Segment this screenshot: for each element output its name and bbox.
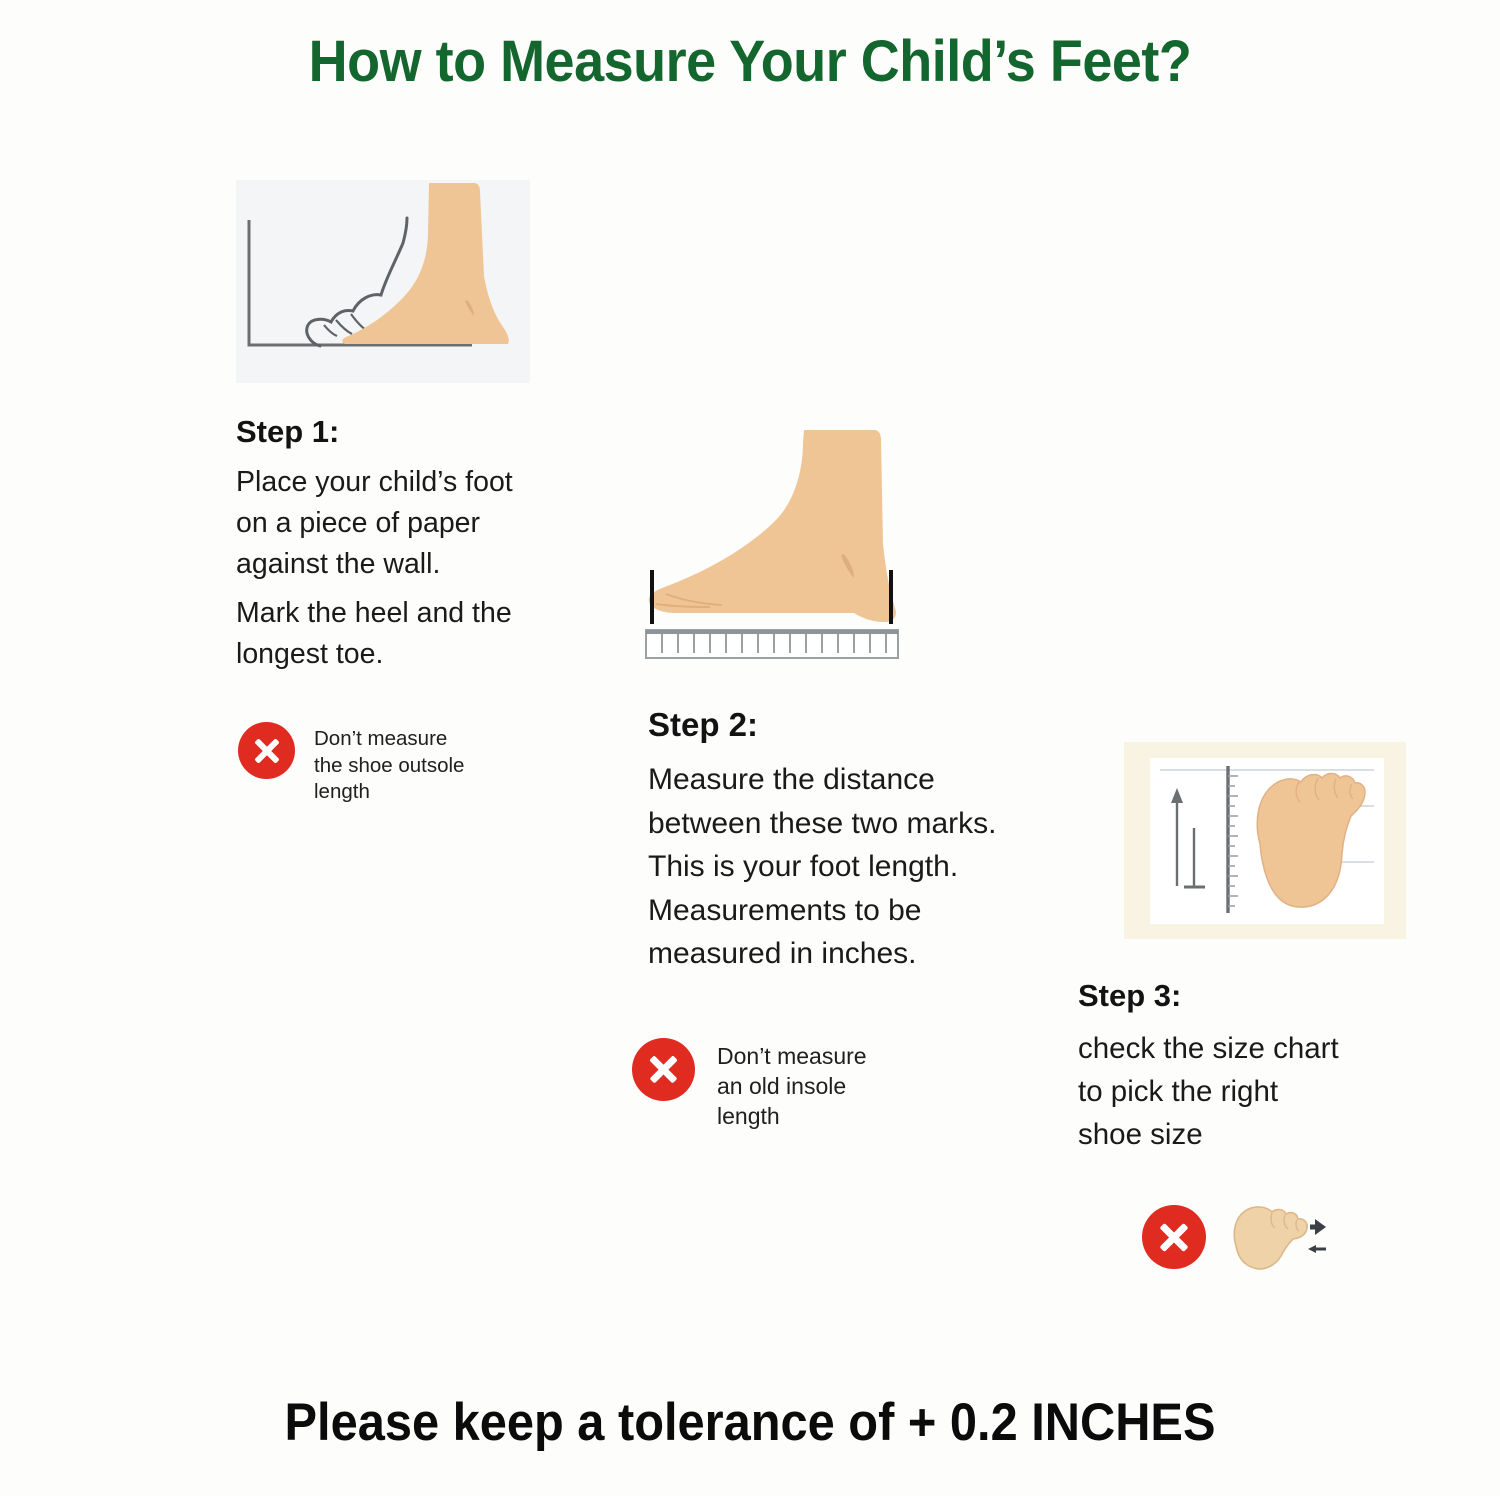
step3-illustration: [1124, 742, 1406, 939]
step1-spacer: [236, 585, 513, 593]
step2-line-5: measured in inches.: [648, 932, 997, 976]
tolerance-note: Please keep a tolerance of + 0.2 INCHES: [60, 1392, 1440, 1453]
step1-warning-line-1: Don’t measure: [314, 726, 464, 753]
step1-illustration: [236, 180, 530, 383]
red-x-circle-icon: [632, 1038, 695, 1101]
step3-line-2: to pick the right: [1078, 1070, 1339, 1113]
step1-warning: Don’t measure the shoe outsole length: [238, 722, 464, 806]
foot-sole-with-vertical-ruler-icon: [1150, 758, 1384, 924]
step2-line-4: Measurements to be: [648, 889, 997, 933]
step2-warning: Don’t measure an old insole length: [632, 1038, 867, 1131]
step1-body: Place your child’s foot on a piece of pa…: [236, 462, 513, 675]
foot-side-profile-against-wall-icon: [236, 180, 530, 383]
step2-line-1: Measure the distance: [648, 758, 997, 802]
step1-title: Step 1:: [236, 414, 339, 450]
step3-title: Step 3:: [1078, 978, 1181, 1014]
toe-mark: [650, 570, 654, 624]
step2-body: Measure the distance between these two m…: [648, 758, 997, 976]
step2-warning-line-1: Don’t measure: [717, 1041, 867, 1071]
step1-line-2: on a piece of paper: [236, 503, 513, 544]
foot-sole-squeeze-arrows-icon: [1226, 1200, 1326, 1276]
step2-line-3: This is your foot length.: [648, 845, 997, 889]
step2-warning-text: Don’t measure an old insole length: [717, 1041, 867, 1131]
step2-warning-line-3: length: [717, 1101, 867, 1131]
foot-side-profile-with-ruler-icon: [636, 424, 936, 664]
step1-line-1: Place your child’s foot: [236, 462, 513, 503]
step2-line-2: between these two marks.: [648, 802, 997, 846]
step3-line-1: check the size chart: [1078, 1027, 1339, 1070]
step3-illustration-inner: [1150, 758, 1384, 924]
step1-line-5: longest toe.: [236, 634, 513, 675]
red-x-circle-icon: [238, 722, 295, 779]
page-title: How to Measure Your Child’s Feet?: [53, 28, 1448, 95]
step3-warning: [1142, 1198, 1326, 1276]
red-x-circle-icon: [1142, 1205, 1206, 1269]
step3-line-3: shoe size: [1078, 1113, 1339, 1156]
step1-warning-text: Don’t measure the shoe outsole length: [314, 726, 464, 806]
step1-line-3: against the wall.: [236, 544, 513, 585]
step2-title: Step 2:: [648, 706, 758, 744]
step1-warning-line-3: length: [314, 779, 464, 806]
step1-line-4: Mark the heel and the: [236, 593, 513, 634]
step2-warning-line-2: an old insole: [717, 1071, 867, 1101]
step1-warning-line-2: the shoe outsole: [314, 753, 464, 780]
step3-body: check the size chart to pick the right s…: [1078, 1027, 1339, 1156]
measure-guide-page: How to Measure Your Child’s Feet? Step 1…: [0, 0, 1500, 1496]
heel-mark: [889, 570, 893, 624]
step2-illustration: [636, 424, 936, 664]
